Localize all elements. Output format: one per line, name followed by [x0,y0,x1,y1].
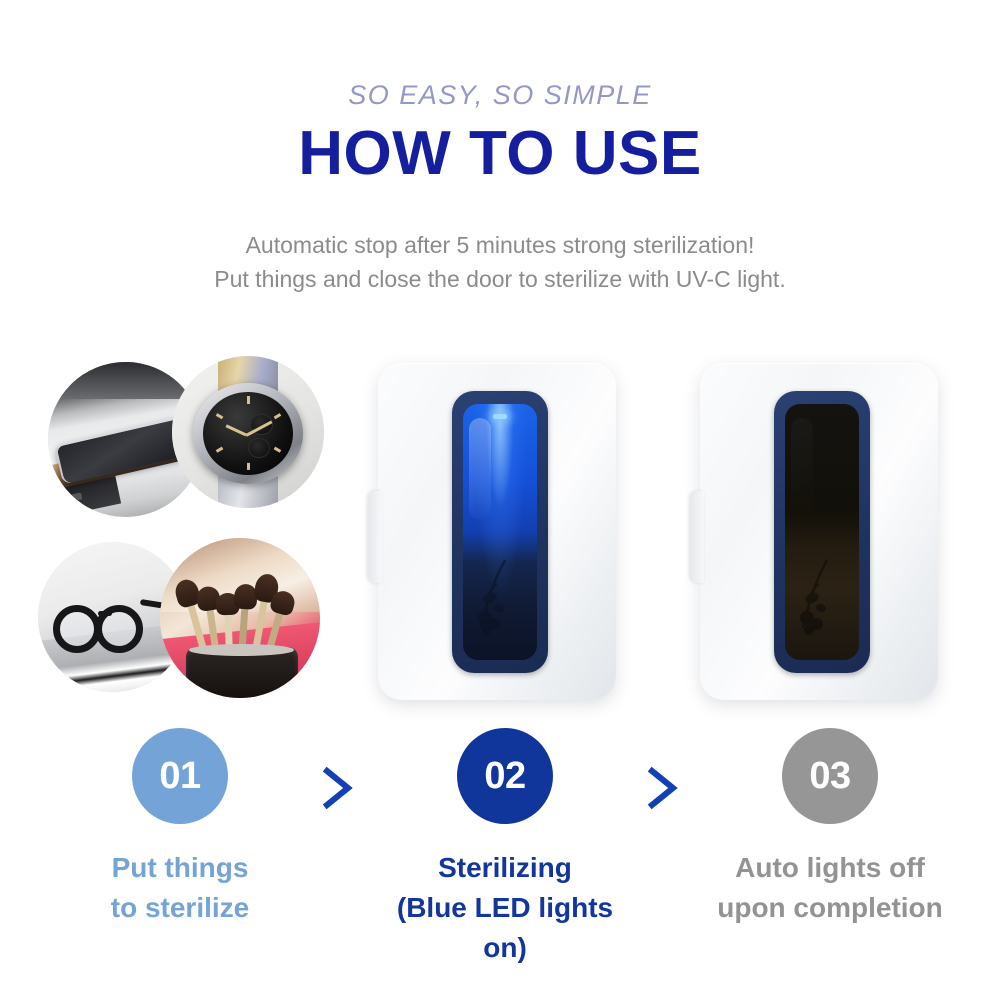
subtitle-line-2: Put things and close the door to sterili… [0,262,1000,296]
step-caption-01: Put things to sterilize [50,848,310,928]
step-caption-03-line-1: Auto lights off [700,848,960,888]
step-03: 03 Auto lights off upon completion [700,728,960,928]
infographic-page: SO EASY, SO SIMPLE HOW TO USE Automatic … [0,0,1000,1000]
device-window-lit [463,404,537,660]
uv-sterilizer-lights-on [378,363,616,700]
uv-sterilizer-lights-off [700,363,938,700]
device-window-dark [785,404,859,660]
step-badge-03: 03 [782,728,878,824]
step-caption-01-line-1: Put things [50,848,310,888]
step-caption-02: Sterilizing (Blue LED lights on) [375,848,635,968]
door-latch-icon [690,491,704,583]
step-badge-02: 02 [457,728,553,824]
step-caption-01-line-2: to sterilize [50,888,310,928]
photo-collage [30,350,320,710]
flower-pattern-icon [471,556,527,642]
chevron-right-icon-2 [645,766,681,810]
page-title: HOW TO USE [0,118,1000,189]
subtitle-line-1: Automatic stop after 5 minutes strong st… [0,228,1000,262]
led-indicator-icon [493,414,507,419]
step-01: 01 Put things to sterilize [50,728,310,928]
flower-pattern-icon [793,556,849,642]
step-caption-02-line-1: Sterilizing [375,848,635,888]
door-latch-icon [368,491,382,583]
wristwatch-photo [172,356,324,508]
step-caption-03: Auto lights off upon completion [700,848,960,928]
device-window-frame [452,391,548,673]
chevron-right-icon-1 [320,766,356,810]
step-caption-02-line-2: (Blue LED lights on) [375,888,635,968]
eyebrow-text: SO EASY, SO SIMPLE [0,80,1000,111]
step-badge-01: 01 [132,728,228,824]
device-window-frame [774,391,870,673]
steps-row: 01 Put things to sterilize 02 Sterilizin… [0,728,1000,958]
step-caption-03-line-2: upon completion [700,888,960,928]
makeup-brushes-photo [160,538,320,698]
step-02: 02 Sterilizing (Blue LED lights on) [375,728,635,968]
subtitle-block: Automatic stop after 5 minutes strong st… [0,228,1000,296]
